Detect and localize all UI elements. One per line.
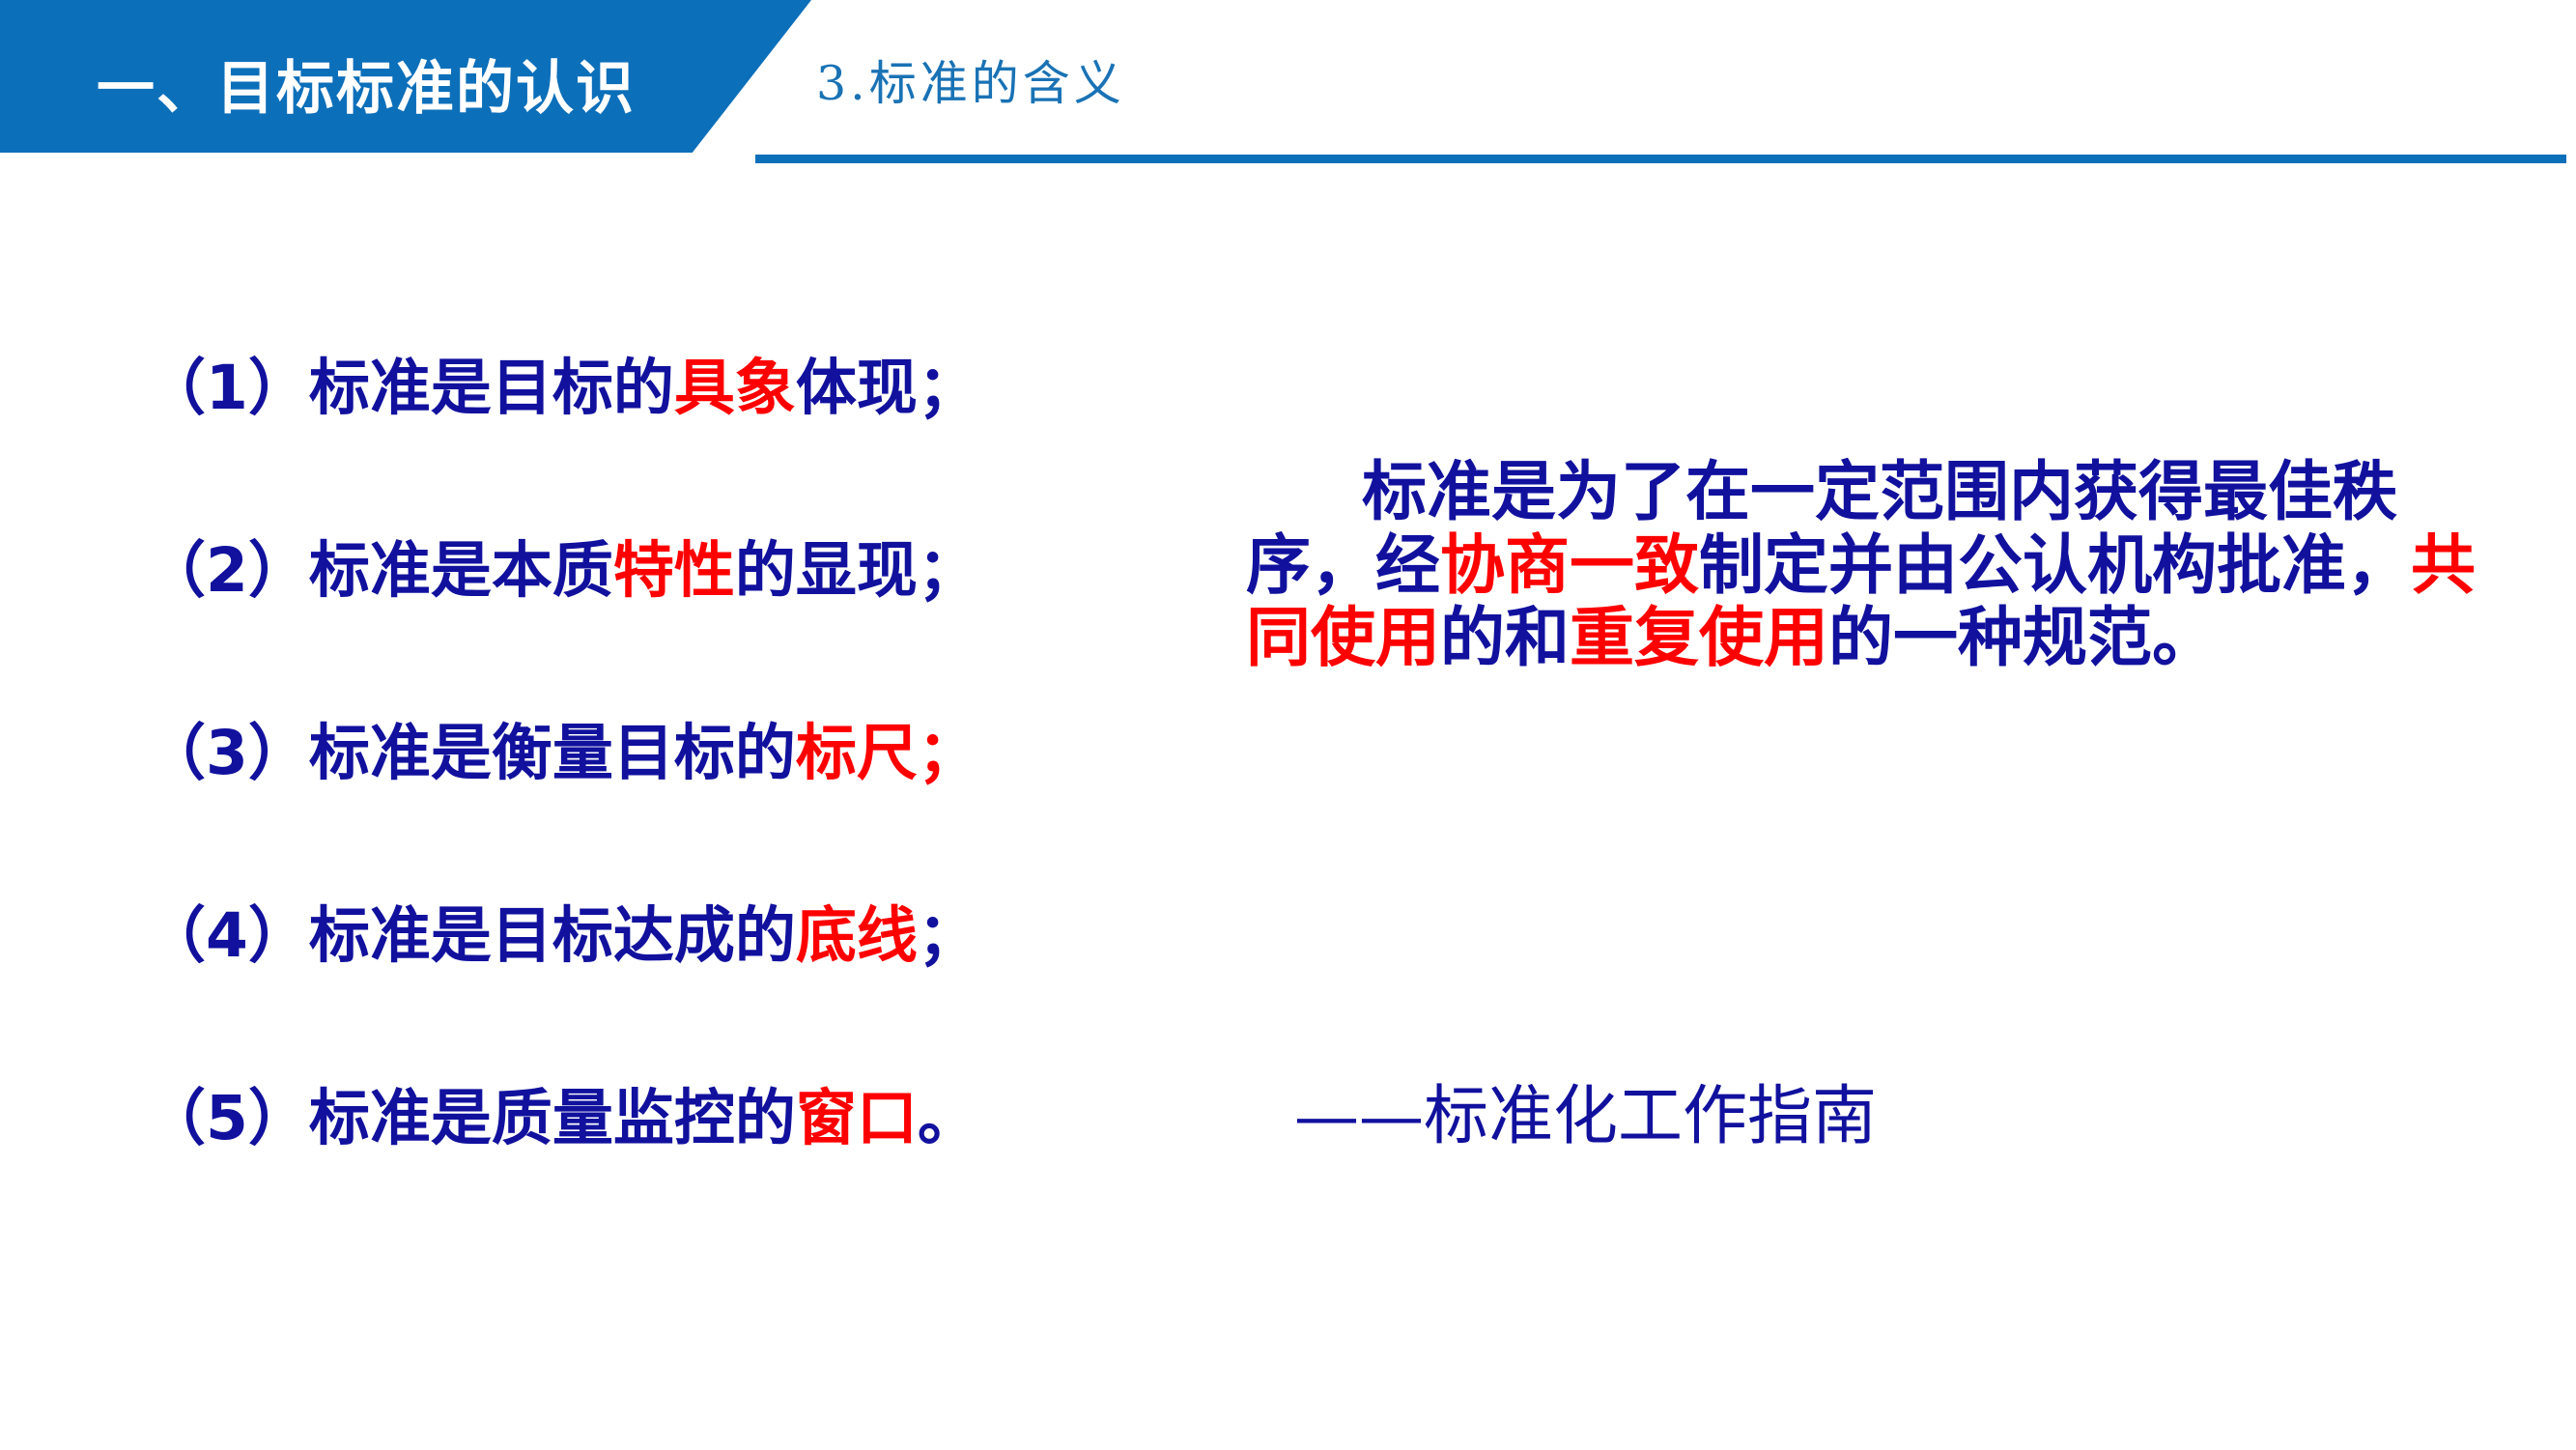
- characteristics-list: （1）标准是目标的具象体现； （2）标准是本质特性的显现； （3）标准是衡量目标…: [145, 357, 1207, 1149]
- list-item: （3）标准是衡量目标的标尺；: [145, 723, 1207, 783]
- definition-line-4-part-b: 的和: [1440, 600, 1570, 675]
- list-item-text-2: 体现: [796, 353, 918, 423]
- list-item-punctuation: ；: [918, 535, 978, 606]
- definition-highlight-1: 协商一致: [1440, 527, 1699, 603]
- definition-highlight-3: 重复使用: [1570, 600, 1828, 675]
- list-item-punctuation: ；: [918, 718, 978, 788]
- slide: 一、目标标准的认识 3.标准的含义 （1）标准是目标的具象体现； （2）标准是本…: [0, 0, 2576, 1450]
- list-item-index: （4）: [145, 900, 309, 971]
- list-item-text-1: 标准是本质: [309, 535, 613, 606]
- list-item-highlight: 底线: [796, 900, 918, 971]
- list-item: （4）标准是目标达成的底线；: [145, 905, 1207, 966]
- header-divider-rule: [755, 155, 2566, 163]
- subsection-title: 3.标准的含义: [816, 60, 1125, 107]
- list-item-highlight: 特性: [613, 535, 735, 606]
- list-item: （2）标准是本质特性的显现；: [145, 540, 1207, 601]
- list-item-text-1: 标准是质量监控的: [309, 1083, 796, 1153]
- list-item-highlight: 具象: [674, 353, 796, 423]
- list-item-index: （3）: [145, 718, 309, 788]
- definition-line-1: 标准是为了在一定范: [1362, 454, 1944, 529]
- list-item-text-1: 标准是目标的: [309, 353, 674, 423]
- list-item-text-2: 的显现: [735, 535, 918, 606]
- list-item-text-1: 标准是衡量目标的: [309, 718, 796, 788]
- definition-line-5-part-b: 的一种规范。: [1828, 600, 2217, 675]
- list-item-punctuation: ；: [918, 353, 978, 423]
- definition-line-3-part-b: 制定并由公认机构批准，: [1699, 527, 2411, 603]
- list-item: （5）标准是质量监控的窗口。: [145, 1088, 1207, 1149]
- definition-source-attribution: ——标准化工作指南: [1294, 1084, 1877, 1149]
- list-item-highlight: 标尺: [796, 718, 918, 788]
- list-item-highlight: 窗口: [796, 1083, 918, 1153]
- list-item-punctuation: 。: [918, 1083, 978, 1153]
- standard-definition-block: 标准是为了在一定范围内获得最佳秩序，经协商一致制定并由公认机构批准，共同使用的和…: [1246, 456, 2492, 675]
- slide-header: 一、目标标准的认识 3.标准的含义: [0, 0, 2576, 184]
- section-title: 一、目标标准的认识: [97, 60, 636, 118]
- list-item-punctuation: ；: [918, 900, 978, 971]
- definition-paragraph: 标准是为了在一定范围内获得最佳秩序，经协商一致制定并由公认机构批准，共同使用的和…: [1246, 456, 2492, 675]
- list-item-index: （5）: [145, 1083, 309, 1153]
- list-item-text-1: 标准是目标达成的: [309, 900, 796, 971]
- list-item: （1）标准是目标的具象体现；: [145, 357, 1207, 418]
- list-item-index: （1）: [145, 353, 309, 423]
- list-item-index: （2）: [145, 535, 309, 606]
